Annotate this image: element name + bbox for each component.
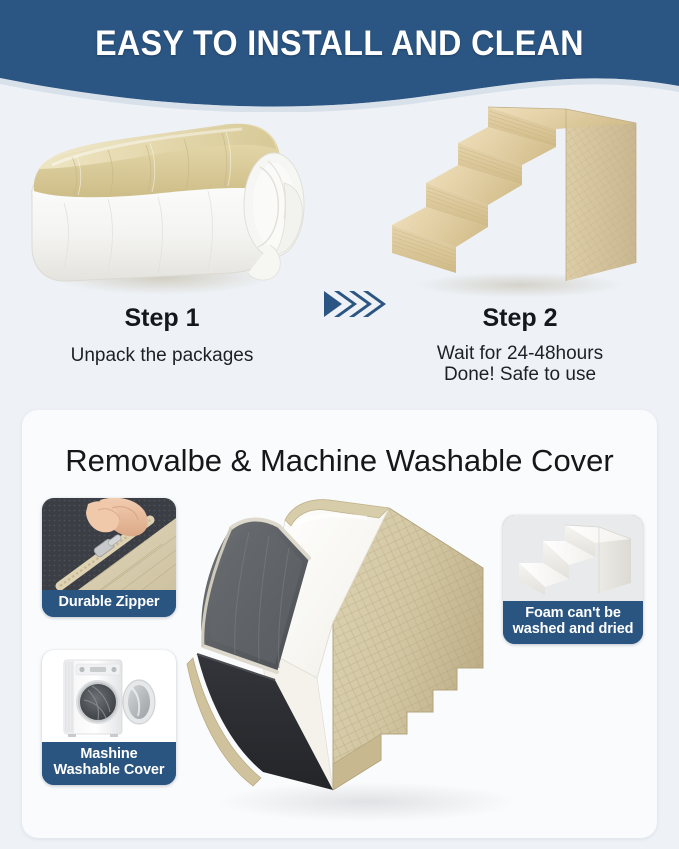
hero-product-image: [157, 472, 547, 832]
foam-blocks-image: [503, 515, 643, 601]
step-1-description: Unpack the packages: [12, 345, 312, 366]
step-2-image: [370, 95, 670, 300]
step-2-description: Wait for 24-48hours Done! Safe to use: [370, 343, 670, 386]
step-2: Step 2 Wait for 24-48hours Done! Safe to…: [370, 95, 670, 395]
foam-not-washable-label-line-2: washed and dried: [505, 622, 641, 638]
machine-washable-label: Mashine Washable Cover: [42, 742, 176, 785]
washable-cover-card: Removalbe & Machine Washable Cover: [22, 410, 657, 838]
badge-durable-zipper[interactable]: Durable Zipper: [42, 498, 176, 617]
page-title: EASY TO INSTALL AND CLEAN: [27, 24, 652, 64]
step-1-title: Step 1: [12, 304, 312, 333]
step-2-description-line-2: Done! Safe to use: [370, 364, 670, 385]
step-1: Step 1 Unpack the packages: [12, 95, 312, 395]
badge-machine-washable[interactable]: Mashine Washable Cover: [42, 650, 176, 785]
step-2-description-line-1: Wait for 24-48hours: [370, 343, 670, 364]
infographic-page: EASY TO INSTALL AND CLEAN: [0, 0, 679, 849]
step-1-image: [12, 95, 312, 300]
machine-washable-label-line-2: Washable Cover: [44, 763, 174, 779]
step-2-title: Step 2: [370, 304, 670, 333]
steps-row: Step 1 Unpack the packages: [0, 95, 679, 395]
foam-not-washable-label: Foam can't be washed and dried: [503, 601, 643, 644]
machine-washable-label-line-1: Mashine: [44, 747, 174, 763]
washing-machine-image: [42, 650, 176, 742]
durable-zipper-image: [42, 498, 176, 590]
foam-not-washable-label-line-1: Foam can't be: [505, 606, 641, 622]
durable-zipper-label: Durable Zipper: [42, 590, 176, 617]
badge-foam-not-washable[interactable]: Foam can't be washed and dried: [503, 515, 643, 644]
